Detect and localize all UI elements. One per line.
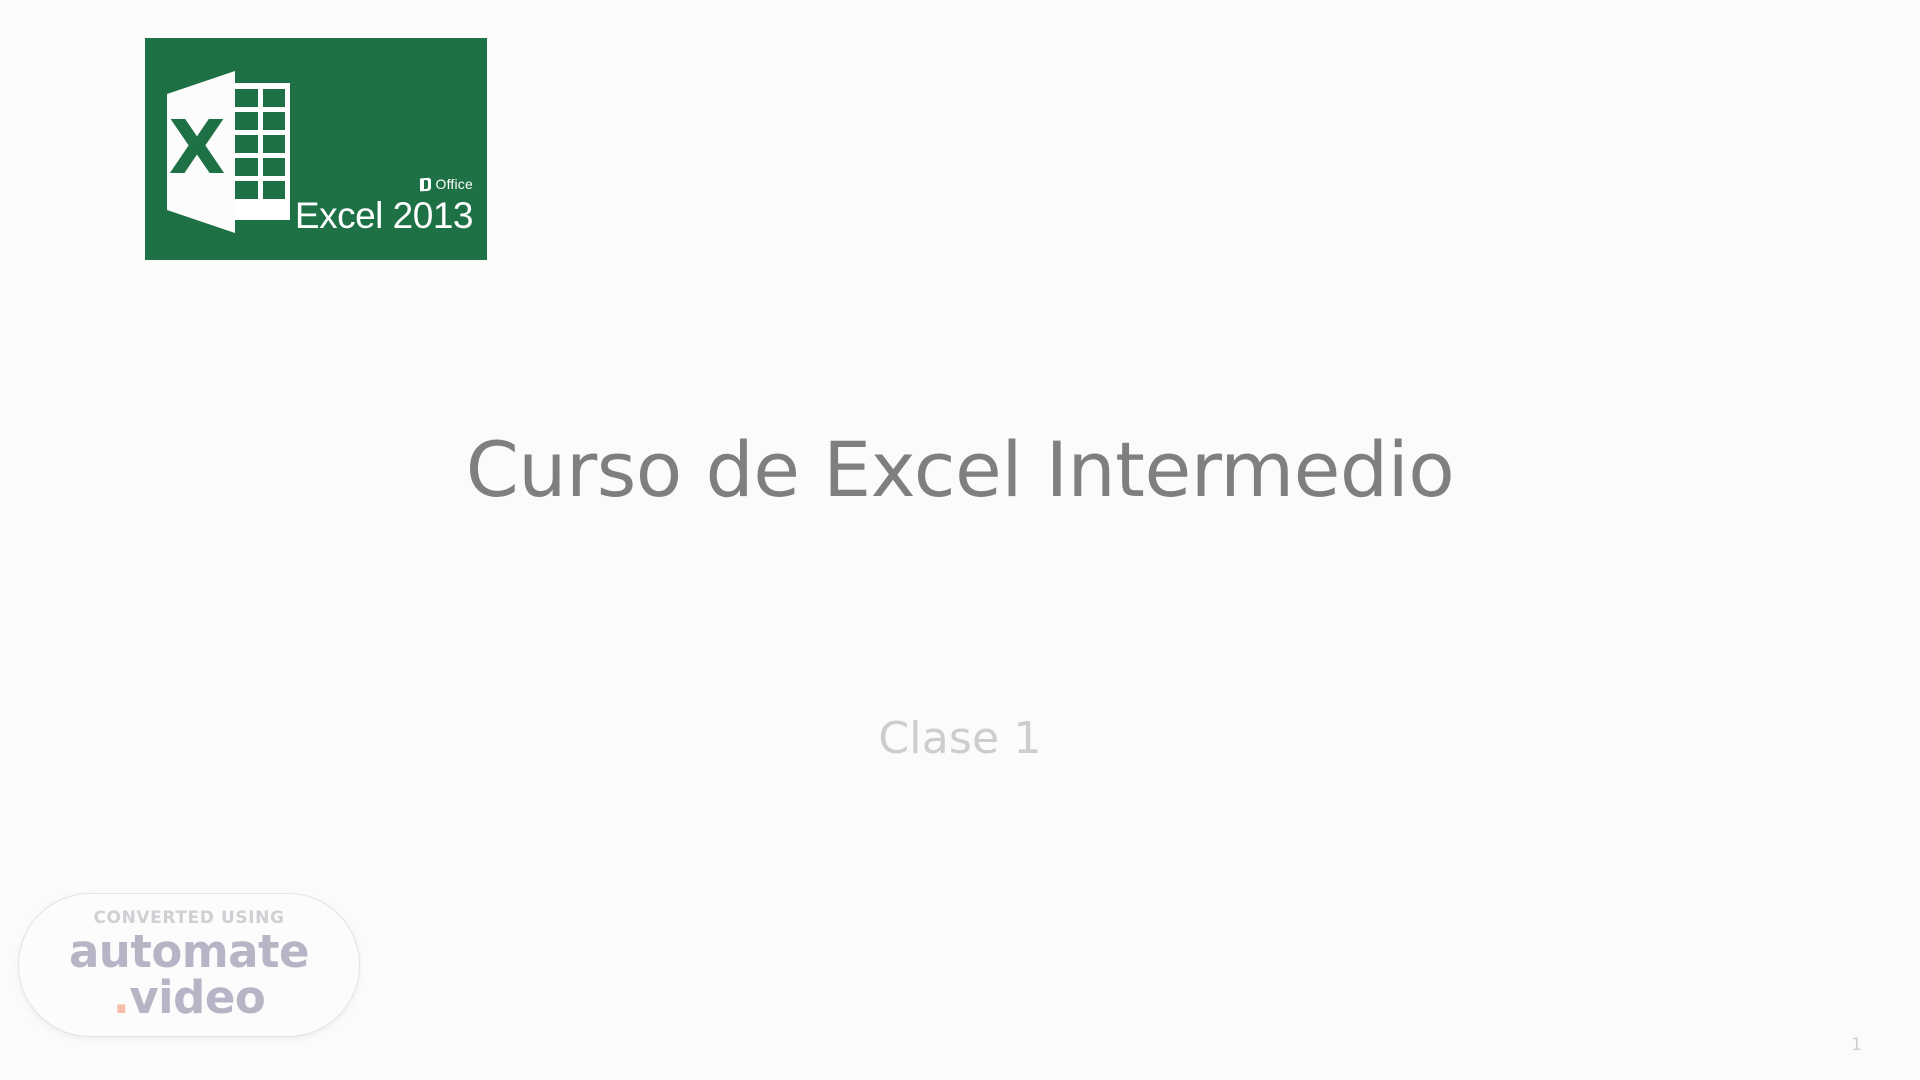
excel-document-page-icon: X	[167, 71, 235, 233]
watermark-tld: video	[129, 975, 265, 1021]
excel-logo-wordmark: Office Excel 2013	[295, 177, 473, 234]
office-squares-icon	[420, 177, 431, 191]
office-brand-line: Office	[295, 177, 473, 191]
product-label: Excel 2013	[295, 197, 473, 234]
subtitle-block: Clase 1	[0, 715, 1920, 763]
watermark-brand: automate	[69, 929, 309, 975]
page-subtitle: Clase 1	[0, 715, 1920, 763]
svg-text:X: X	[168, 105, 225, 191]
presentation-slide: X Office Excel 2013 Curso de Excel Inter…	[0, 0, 1920, 1080]
office-label: Office	[435, 177, 473, 191]
page-title: Curso de Excel Intermedio	[0, 428, 1920, 512]
slide-page-number: 1	[1851, 1035, 1862, 1055]
automate-video-watermark-badge[interactable]: CONVERTED USING automate . video	[18, 893, 360, 1037]
spreadsheet-grid-icon	[230, 83, 290, 220]
excel-2013-logo: X Office Excel 2013	[145, 38, 487, 260]
watermark-tld-row: . video	[113, 975, 266, 1021]
title-block: Curso de Excel Intermedio	[0, 428, 1920, 512]
watermark-dot: .	[113, 975, 130, 1021]
